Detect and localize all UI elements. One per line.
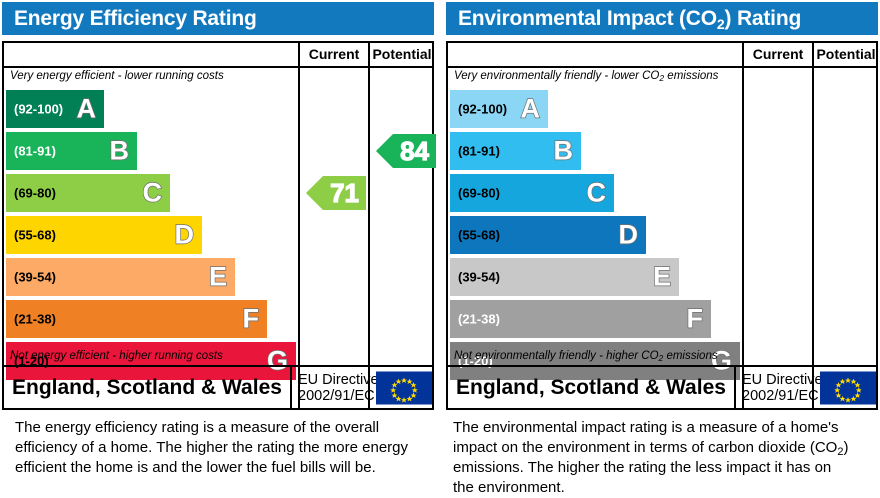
- co2-eu-directive-line2: 2002/91/EC: [742, 388, 819, 404]
- energy-eu-directive-line1: EU Directive: [298, 371, 379, 387]
- co2-description-sub: 2: [837, 446, 843, 458]
- energy-band-f: (21-38) F: [6, 300, 267, 338]
- co2-footer-divider: [734, 367, 736, 408]
- energy-efficiency-description: The energy efficiency rating is a measur…: [15, 418, 415, 478]
- energy-current-value: 71: [330, 180, 359, 206]
- energy-efficiency-grid: Current Potential Very energy efficient …: [2, 41, 434, 410]
- co2-bars-area: Very environmentally friendly - lower CO…: [448, 68, 876, 363]
- co2-eu-directive: EU Directive 2002/91/EC: [742, 371, 823, 403]
- co2-band-f: (21-38) F: [450, 300, 711, 338]
- energy-band-e-range: (39-54): [14, 270, 56, 285]
- environmental-impact-title-suffix: ) Rating: [725, 7, 802, 30]
- co2-band-c-letter: C: [587, 180, 607, 207]
- energy-current-header: Current: [300, 43, 368, 66]
- co2-band-d-range: (55-68): [458, 228, 500, 243]
- co2-current-header: Current: [744, 43, 812, 66]
- co2-band-e-range: (39-54): [458, 270, 500, 285]
- co2-band-b: (81-91) B: [450, 132, 581, 170]
- energy-bottom-caption: Not energy efficient - higher running co…: [10, 350, 223, 362]
- energy-footer: England, Scotland & Wales EU Directive 2…: [4, 365, 432, 408]
- co2-description-part1: The environmental impact rating is a mea…: [453, 419, 839, 456]
- co2-band-b-letter: B: [554, 138, 574, 165]
- energy-band-c-range: (69-80): [14, 186, 56, 201]
- environmental-impact-title-prefix: Environmental Impact (CO: [458, 7, 717, 30]
- energy-footer-region: England, Scotland & Wales: [12, 376, 282, 400]
- energy-top-caption: Very energy efficient - lower running co…: [10, 70, 224, 82]
- co2-bottom-caption: Not environmentally friendly - higher CO…: [454, 350, 718, 362]
- co2-top-caption-sub: 2: [659, 73, 664, 83]
- energy-bars-area: Very energy efficient - lower running co…: [4, 68, 432, 363]
- energy-band-e-letter: E: [209, 264, 227, 291]
- energy-band-d-range: (55-68): [14, 228, 56, 243]
- co2-band-f-letter: F: [687, 306, 704, 333]
- energy-potential-marker: 84: [376, 134, 436, 168]
- energy-band-b-letter: B: [110, 138, 130, 165]
- energy-efficiency-panel: Energy Efficiency Rating Current Potenti…: [0, 0, 436, 412]
- co2-footer-region: England, Scotland & Wales: [456, 376, 726, 400]
- energy-potential-header: Potential: [370, 43, 434, 66]
- co2-top-caption-prefix: Very environmentally friendly - lower CO: [454, 70, 659, 82]
- co2-top-caption-suffix: emissions: [664, 70, 718, 82]
- co2-bottom-caption-sub: 2: [659, 353, 664, 363]
- epc-rating-sheet: Energy Efficiency Rating Current Potenti…: [0, 0, 880, 493]
- co2-band-f-range: (21-38): [458, 312, 500, 327]
- co2-top-caption: Very environmentally friendly - lower CO…: [454, 70, 718, 82]
- co2-potential-header: Potential: [814, 43, 878, 66]
- environmental-impact-grid: Current Potential Very environmentally f…: [446, 41, 878, 410]
- energy-band-b: (81-91) B: [6, 132, 137, 170]
- co2-band-c-range: (69-80): [458, 186, 500, 201]
- eu-flag-icon-2: [820, 371, 876, 404]
- energy-band-f-range: (21-38): [14, 312, 56, 327]
- co2-band-e-letter: E: [653, 264, 671, 291]
- energy-band-f-letter: F: [243, 306, 260, 333]
- energy-eu-directive-line2: 2002/91/EC: [298, 388, 375, 404]
- energy-band-c-letter: C: [143, 180, 163, 207]
- co2-band-d-letter: D: [619, 222, 639, 249]
- environmental-impact-description: The environmental impact rating is a mea…: [453, 418, 853, 498]
- energy-band-b-range: (81-91): [14, 144, 56, 159]
- eu-flag-icon: [376, 371, 432, 404]
- co2-eu-directive-line1: EU Directive: [742, 371, 823, 387]
- co2-band-a: (92-100) A: [450, 90, 548, 128]
- co2-bottom-caption-suffix: emissions: [663, 350, 717, 362]
- co2-band-a-range: (92-100): [458, 102, 507, 117]
- energy-band-c: (69-80) C: [6, 174, 170, 212]
- environmental-impact-panel: Environmental Impact (CO2) Rating Curren…: [444, 0, 880, 412]
- co2-band-c: (69-80) C: [450, 174, 614, 212]
- co2-bottom-caption-prefix: Not environmentally friendly - higher CO: [454, 350, 659, 362]
- energy-current-marker: 71: [306, 176, 366, 210]
- energy-band-a-letter: A: [77, 96, 97, 123]
- energy-band-e: (39-54) E: [6, 258, 235, 296]
- co2-band-b-range: (81-91): [458, 144, 500, 159]
- energy-band-a: (92-100) A: [6, 90, 104, 128]
- energy-potential-value: 84: [400, 138, 429, 164]
- energy-eu-directive: EU Directive 2002/91/EC: [298, 371, 379, 403]
- energy-efficiency-title: Energy Efficiency Rating: [2, 2, 434, 35]
- environmental-impact-title-sub: 2: [717, 16, 725, 32]
- energy-footer-divider: [290, 367, 292, 408]
- energy-band-d-letter: D: [175, 222, 195, 249]
- energy-band-d: (55-68) D: [6, 216, 202, 254]
- co2-footer: England, Scotland & Wales EU Directive 2…: [448, 365, 876, 408]
- co2-band-e: (39-54) E: [450, 258, 679, 296]
- environmental-impact-title: Environmental Impact (CO2) Rating: [446, 2, 878, 35]
- energy-band-a-range: (92-100): [14, 102, 63, 117]
- co2-band-a-letter: A: [521, 96, 541, 123]
- co2-band-d: (55-68) D: [450, 216, 646, 254]
